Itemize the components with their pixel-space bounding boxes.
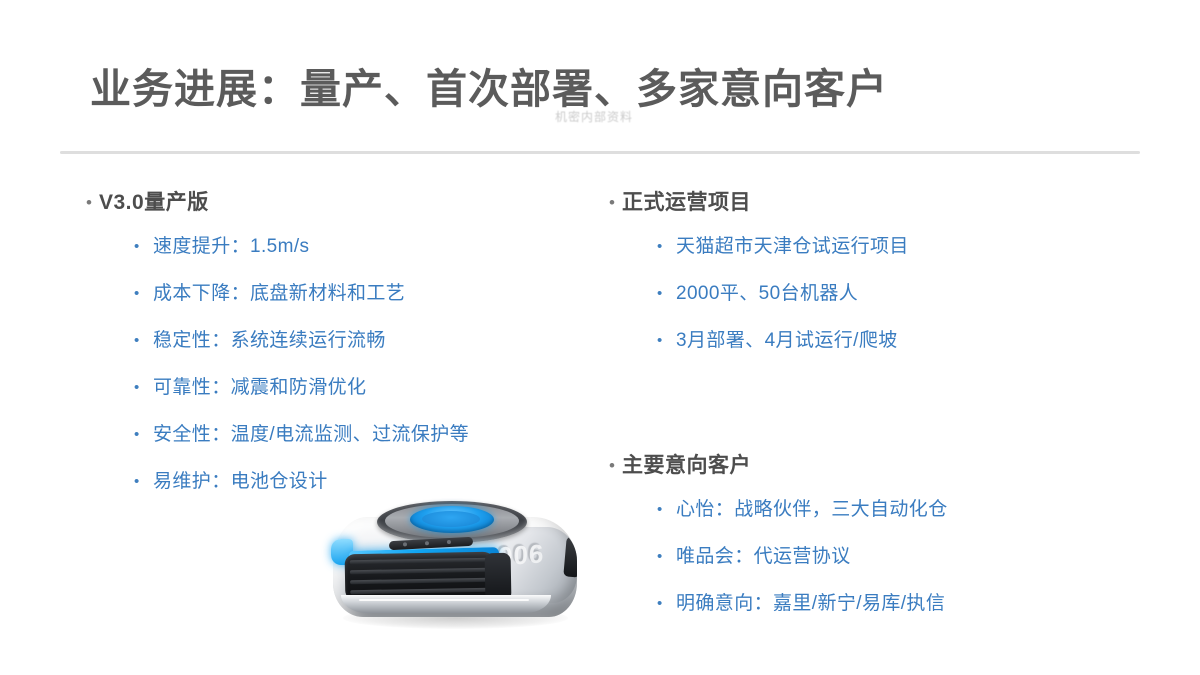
content-group-operations: • 正式运营项目 • 天猫超市天津仓试运行项目 • 2000平、50台机器人 •… — [609, 190, 1079, 353]
watermark-text: 机密内部资料 — [555, 108, 633, 125]
list-item-label: 心怡：战略伙伴，三大自动化仓 — [676, 497, 948, 522]
bullet-level2-icon: • — [657, 544, 676, 569]
robot-side-panel — [485, 553, 512, 601]
group-heading: V3.0量产版 — [99, 190, 209, 216]
list-item: • 可靠性：减震和防滑优化 — [134, 375, 586, 400]
bullet-level1-icon: • — [609, 453, 622, 479]
robot-chrome-lip — [341, 595, 551, 613]
content-group-customers: • 主要意向客户 • 心怡：战略伙伴，三大自动化仓 • 唯品会：代运营协议 • … — [609, 453, 1079, 616]
page-title: 业务进展：量产、首次部署、多家意向客户 — [90, 64, 888, 115]
bullet-level1-icon: • — [609, 190, 622, 216]
list-item-label: 速度提升：1.5m/s — [153, 234, 309, 259]
grille-slat — [350, 588, 492, 594]
list-item-label: 稳定性：系统连续运行流畅 — [153, 328, 386, 353]
group-heading: 正式运营项目 — [622, 190, 751, 216]
list-item: • 心怡：战略伙伴，三大自动化仓 — [657, 497, 1079, 522]
bullet-level1-icon: • — [86, 190, 99, 216]
list-item-label: 可靠性：减震和防滑优化 — [153, 375, 366, 400]
bullet-level2-icon: • — [657, 234, 676, 259]
list-item-label: 明确意向：嘉里/新宁/易库/执信 — [676, 591, 945, 616]
robot-chrome-highlight — [359, 599, 529, 601]
list-item-label: 易维护：电池仓设计 — [153, 469, 328, 494]
content-group-v3: • V3.0量产版 • 速度提升：1.5m/s • 成本下降：底盘新材料和工艺 … — [86, 190, 586, 494]
grille-slat — [350, 578, 492, 584]
list-item: • 唯品会：代运营协议 — [657, 544, 1079, 569]
bullet-level2-icon: • — [134, 281, 153, 306]
title-divider — [60, 151, 1140, 154]
list-item-label: 安全性：温度/电流监测、过流保护等 — [153, 422, 469, 447]
sensor-dot — [447, 540, 451, 544]
right-column: • 正式运营项目 • 天猫超市天津仓试运行项目 • 2000平、50台机器人 •… — [609, 190, 1079, 638]
list-item: • 安全性：温度/电流监测、过流保护等 — [134, 422, 586, 447]
list-item: • 2000平、50台机器人 — [657, 281, 1079, 306]
list-item: • 速度提升：1.5m/s — [134, 234, 586, 259]
list-item-label: 3月部署、4月试运行/爬坡 — [676, 328, 898, 353]
list-item: • 3月部署、4月试运行/爬坡 — [657, 328, 1079, 353]
sensor-dot — [403, 542, 407, 546]
group-heading-row: • 主要意向客户 — [609, 453, 1079, 479]
robot-blue-disc-inner — [422, 511, 480, 527]
list-item: • 易维护：电池仓设计 — [134, 469, 586, 494]
list-item-label: 成本下降：底盘新材料和工艺 — [153, 281, 405, 306]
bullet-level2-icon: • — [134, 469, 153, 494]
slide-canvas: 业务进展：量产、首次部署、多家意向客户 机密内部资料 • V3.0量产版 • 速… — [0, 0, 1200, 675]
sensor-dot — [425, 541, 429, 545]
list-item-label: 2000平、50台机器人 — [676, 281, 858, 306]
list-item: • 明确意向：嘉里/新宁/易库/执信 — [657, 591, 1079, 616]
group-heading: 主要意向客户 — [622, 453, 751, 479]
list-item: • 天猫超市天津仓试运行项目 — [657, 234, 1079, 259]
bullet-level2-icon: • — [134, 375, 153, 400]
list-item-label: 天猫超市天津仓试运行项目 — [676, 234, 909, 259]
bullet-level2-icon: • — [134, 234, 153, 259]
bullet-level2-icon: • — [657, 281, 676, 306]
bullet-level2-icon: • — [657, 497, 676, 522]
bullet-level2-icon: • — [134, 328, 153, 353]
list-item: • 稳定性：系统连续运行流畅 — [134, 328, 586, 353]
group-heading-row: • V3.0量产版 — [86, 190, 586, 216]
robot-image: 006 — [325, 495, 585, 645]
bullet-level2-icon: • — [657, 591, 676, 616]
grille-slat — [350, 568, 492, 574]
list-item: • 成本下降：底盘新材料和工艺 — [134, 281, 586, 306]
group-heading-row: • 正式运营项目 — [609, 190, 1079, 216]
grille-slat — [350, 558, 492, 564]
left-column: • V3.0量产版 • 速度提升：1.5m/s • 成本下降：底盘新材料和工艺 … — [86, 190, 586, 516]
bullet-level2-icon: • — [134, 422, 153, 447]
robot-vent-slot — [563, 536, 577, 577]
list-item-label: 唯品会：代运营协议 — [676, 544, 851, 569]
bullet-level2-icon: • — [657, 328, 676, 353]
